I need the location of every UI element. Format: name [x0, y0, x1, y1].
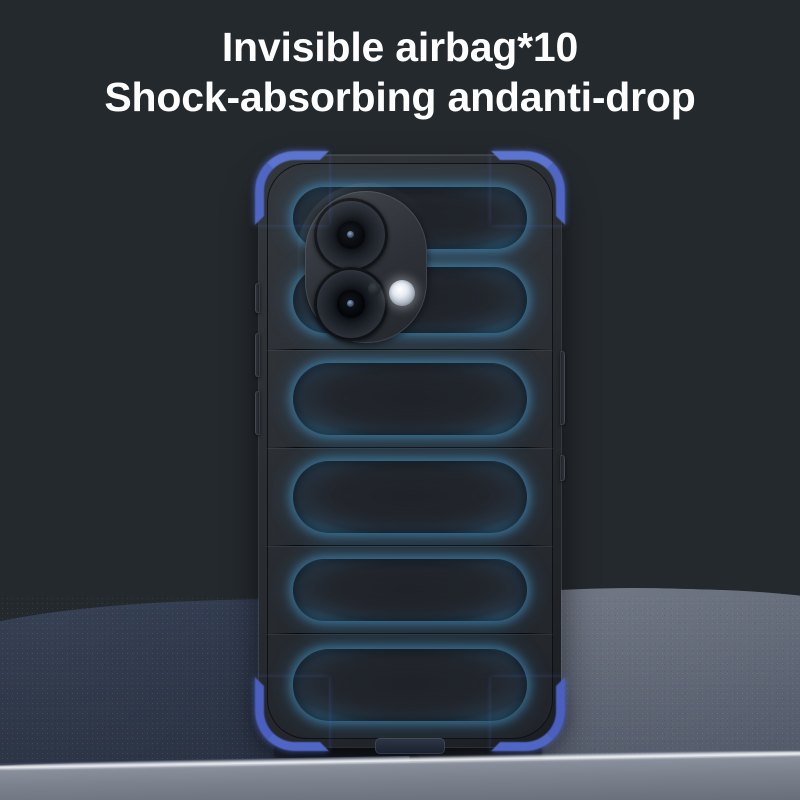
power-button [560, 351, 565, 425]
bottom-port-cutout [375, 738, 445, 754]
headline-line-2: Shock-absorbing andanti-drop [0, 72, 800, 122]
band-ridge-3 [267, 545, 553, 546]
airbag-band-5 [293, 559, 527, 621]
product-image-stage: Invisible airbag*10 Shock-absorbing anda… [0, 0, 800, 800]
airbag-band-4 [293, 461, 527, 533]
camera-control-button [560, 455, 565, 481]
volume-down-button [255, 391, 260, 435]
headline-line-1: Invisible airbag*10 [0, 22, 800, 72]
bumper-top-right [491, 151, 565, 225]
camera-lens-ultrawide [314, 267, 388, 341]
phone-case [259, 155, 561, 747]
band-ridge-2 [267, 447, 553, 448]
band-ridge-1 [267, 349, 553, 350]
airbag-band-3 [293, 363, 527, 435]
bumper-bottom-right [491, 677, 565, 751]
band-ridge-4 [267, 633, 553, 634]
microphone-icon [368, 282, 381, 295]
case-back-panel [267, 163, 553, 739]
action-button [255, 283, 260, 313]
page-title: Invisible airbag*10 Shock-absorbing anda… [0, 22, 800, 122]
bumper-bottom-left [255, 677, 329, 751]
bumper-top-left [255, 151, 329, 225]
camera-flash-icon [389, 280, 415, 306]
volume-up-button [255, 333, 260, 377]
